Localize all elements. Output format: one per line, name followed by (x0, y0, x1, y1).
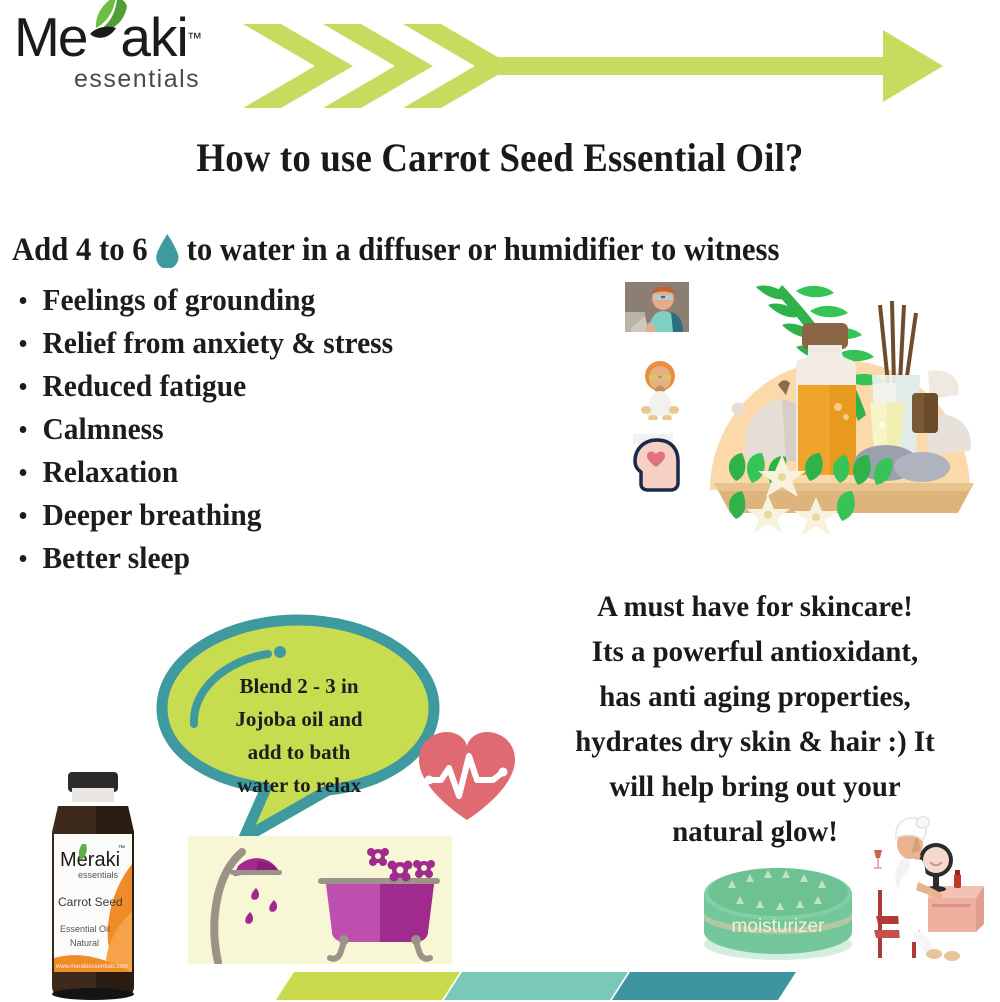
intro-after-droplet: to water in a diffuser or humidifier to … (187, 232, 780, 269)
segment-light-teal (444, 972, 628, 1000)
brand-tagline: essentials (74, 65, 200, 94)
skincare-line: Its a powerful antioxidant, (529, 629, 980, 674)
bottle-line1: Essential Oil (60, 924, 110, 934)
brand-logo: Meaki ™ essentials (14, 8, 224, 103)
infographic-page: Meaki ™ essentials How to use Carrot See… (0, 0, 1000, 1000)
moisturizer-jar-icon: moisturizer (692, 848, 864, 964)
decorative-parallelogram-bar (276, 968, 1000, 1002)
brand-wordmark: Meaki ™ (14, 8, 224, 66)
segment-lime (276, 972, 460, 1000)
bottle-brand: Meraki (60, 849, 120, 871)
bubble-line: water to relax (204, 769, 394, 802)
benefits-list: Feelings of grounding Relief from anxiet… (14, 278, 574, 579)
svg-text:™: ™ (118, 845, 125, 852)
speech-bubble-text: Blend 2 - 3 in Jojoba oil and add to bat… (204, 670, 394, 802)
chevron-arrow-right-icon (243, 22, 988, 110)
seated-person-fatigue-icon (639, 358, 681, 420)
bottle-website: www.merakiessentials.com (55, 964, 128, 970)
leaf-icon (86, 0, 132, 46)
list-item: Deeper breathing (14, 493, 546, 536)
spa-aromatherapy-illustration (690, 275, 990, 565)
heart-with-heartbeat-icon (415, 728, 519, 824)
woman-at-vanity-skincare-illustration (866, 812, 990, 964)
intro-line: Add 4 to 6 to water in a diffuser or hum… (12, 232, 905, 269)
water-droplet-icon (155, 234, 179, 268)
bottle-line2: Natural (70, 938, 99, 948)
skincare-line: has anti aging properties, (529, 674, 980, 719)
skincare-line: hydrates dry skin & hair :) It (529, 719, 980, 764)
bubble-line: Blend 2 - 3 in (204, 670, 394, 703)
bottle-product: Carrot Seed (58, 895, 123, 909)
list-item: Feelings of grounding (14, 278, 546, 321)
list-item: Relaxation (14, 450, 546, 493)
essential-oil-bottle: Meraki ™ essentials Carrot Seed Essentia… (34, 772, 152, 1000)
mini-icon-group (625, 282, 691, 492)
bubble-line: add to bath (204, 736, 394, 769)
list-item: Reduced fatigue (14, 364, 546, 407)
speech-bubble: Blend 2 - 3 in Jojoba oil and add to bat… (148, 612, 448, 852)
list-item: Better sleep (14, 536, 546, 579)
page-title: How to use Carrot Seed Essential Oil? (40, 134, 960, 181)
list-item: Relief from anxiety & stress (14, 321, 546, 364)
moisturizer-label: moisturizer (732, 916, 826, 937)
trademark-symbol: ™ (187, 10, 202, 68)
bottle-brand-sub: essentials (78, 870, 119, 880)
skincare-line: will help bring out your (529, 764, 980, 809)
brand-name-part1: Me (14, 6, 86, 68)
shower-and-bathtub-illustration (188, 836, 452, 964)
list-item: Calmness (14, 407, 546, 450)
segment-dark-teal (612, 972, 796, 1000)
intro-before-droplet: Add 4 to 6 (12, 232, 148, 269)
skincare-line: A must have for skincare! (529, 584, 980, 629)
bubble-line: Jojoba oil and (204, 703, 394, 736)
head-with-heart-wellbeing-icon (631, 434, 687, 492)
person-at-laptop-stress-icon (625, 282, 689, 332)
